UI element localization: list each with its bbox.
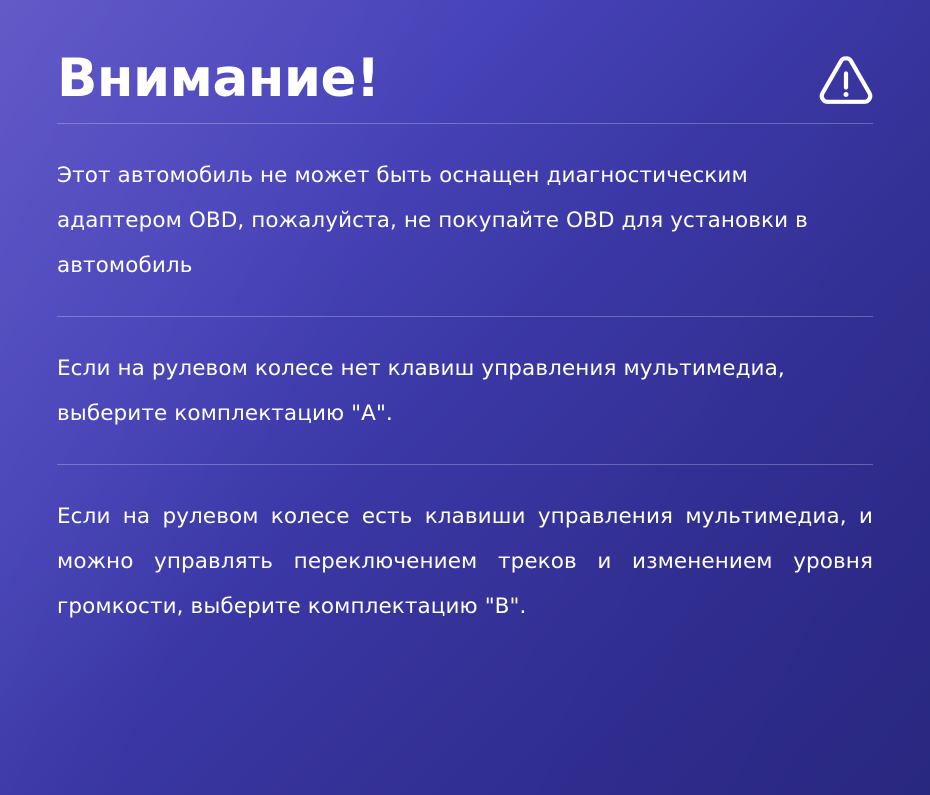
obd-warning-block: Этот автомобиль не может быть оснащен ди… bbox=[45, 124, 885, 316]
notice-header: Внимание! bbox=[45, 0, 885, 105]
obd-warning-text: Этот автомобиль не может быть оснащен ди… bbox=[57, 153, 873, 288]
warning-triangle-icon bbox=[818, 53, 874, 105]
warning-notice-card: Внимание! Этот автомобиль не может быть … bbox=[0, 0, 930, 795]
page-title: Внимание! bbox=[57, 52, 380, 105]
trim-b-instruction-block: Если на рулевом колесе есть клавиши упра… bbox=[45, 465, 885, 657]
trim-b-instruction-text: Если на рулевом колесе есть клавиши упра… bbox=[57, 494, 873, 629]
trim-a-instruction-block: Если на рулевом колесе нет клавиш управл… bbox=[45, 317, 885, 464]
trim-a-instruction-text: Если на рулевом колесе нет клавиш управл… bbox=[57, 346, 873, 436]
card-inner: Внимание! Этот автомобиль не может быть … bbox=[0, 0, 930, 795]
